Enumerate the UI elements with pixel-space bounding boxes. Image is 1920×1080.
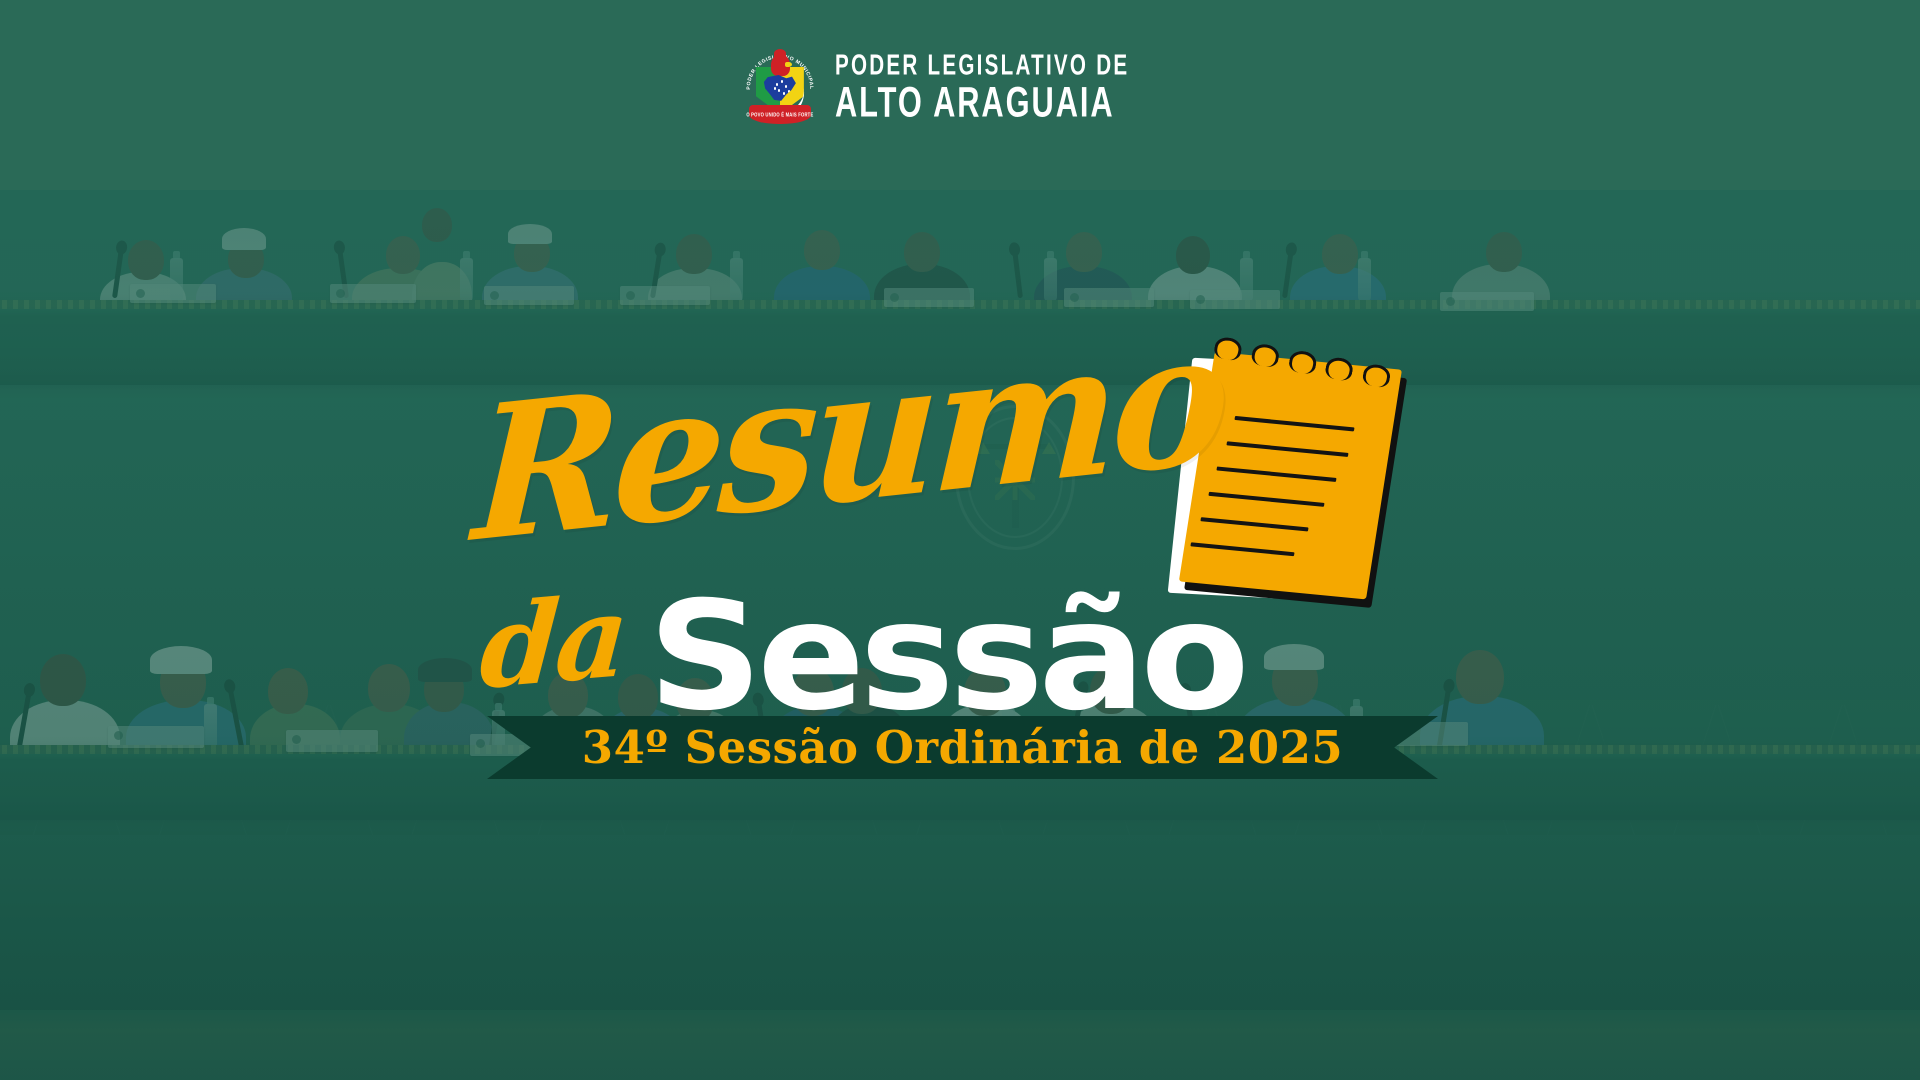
title-script-resumo: Resumo xyxy=(470,304,1228,568)
title-block: Resumo da Sessão xyxy=(0,0,1920,1080)
poster-canvas: PODER LEGISLATIVO MUNICIPAL O POVO UNIDO… xyxy=(0,0,1920,1080)
title-bold-sessao: Sessão xyxy=(648,582,1244,732)
session-banner-label: 34º Sessão Ordinária de 2025 xyxy=(487,716,1438,779)
title-script-da: da xyxy=(477,580,629,706)
